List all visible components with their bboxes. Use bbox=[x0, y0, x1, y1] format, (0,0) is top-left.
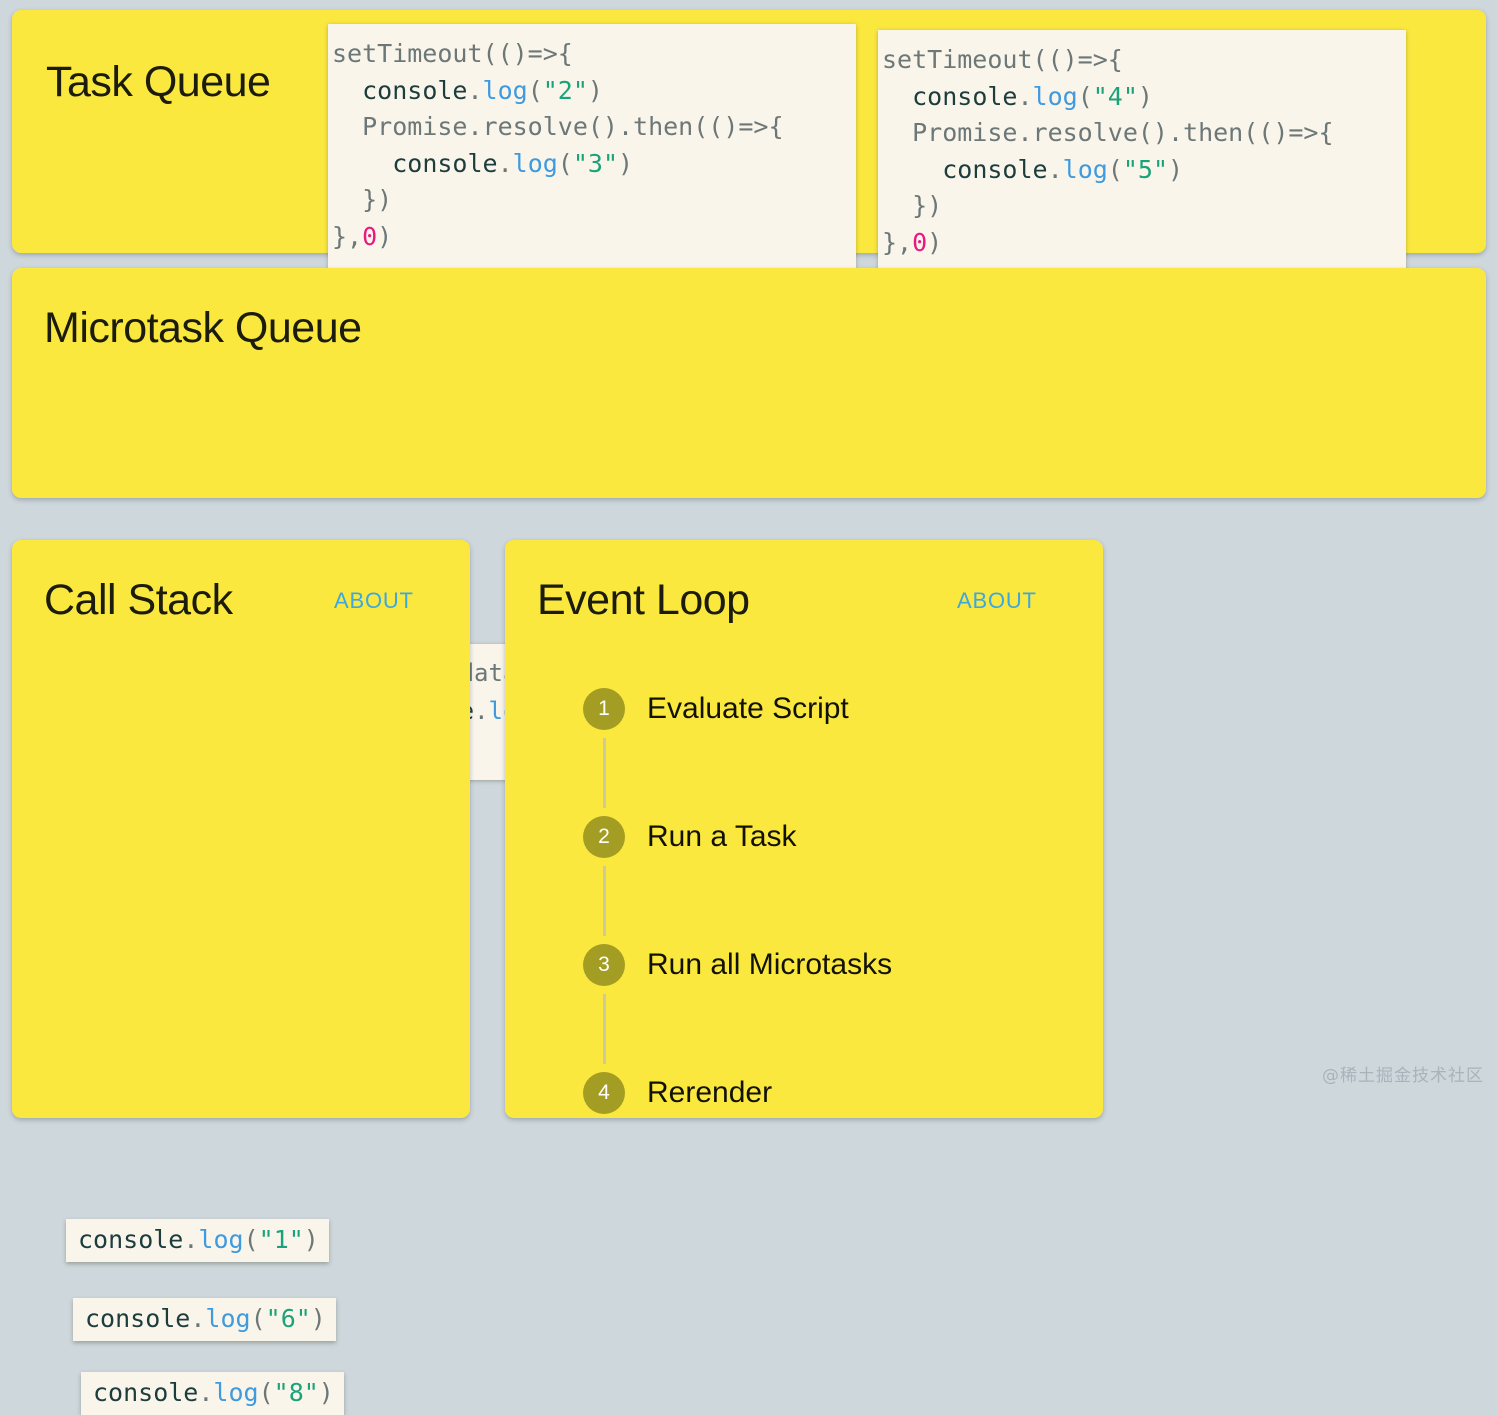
code-token: ( bbox=[558, 149, 573, 178]
event-loop-connector bbox=[603, 994, 606, 1064]
code-line: setTimeout(()=>{ bbox=[332, 36, 856, 73]
event-loop-step[interactable]: 2Run a Task bbox=[583, 816, 1083, 944]
code-token: ) bbox=[1168, 155, 1183, 184]
code-token: console bbox=[78, 1225, 183, 1254]
call-stack-about-link[interactable]: ABOUT bbox=[334, 590, 414, 612]
code-token: log bbox=[205, 1304, 250, 1333]
code-token: console bbox=[912, 82, 1017, 111]
call-stack-item[interactable]: console.log("1") bbox=[66, 1219, 329, 1262]
code-token: . bbox=[1048, 155, 1063, 184]
code-token: "4" bbox=[1093, 82, 1138, 111]
call-stack-title: Call Stack bbox=[44, 579, 233, 622]
code-line: console.log("2") bbox=[332, 73, 856, 110]
code-token: . bbox=[498, 149, 513, 178]
code-token: ) bbox=[319, 1378, 334, 1407]
code-token: ( bbox=[1078, 82, 1093, 111]
code-token: ) bbox=[618, 149, 633, 178]
call-stack-panel: Call Stack ABOUT console.log("1") consol… bbox=[12, 540, 470, 1118]
task-queue-title: Task Queue bbox=[46, 61, 270, 104]
code-token: ) bbox=[927, 228, 942, 257]
code-token: }, bbox=[332, 222, 362, 251]
code-line: console.log("3") bbox=[332, 146, 856, 183]
event-loop-step[interactable]: 4Rerender bbox=[583, 1072, 1083, 1132]
event-loop-step-number: 1 bbox=[583, 688, 625, 730]
code-token bbox=[882, 82, 912, 111]
code-token: ) bbox=[377, 222, 392, 251]
microtask-queue-panel: Microtask Queue p.then((data)=>{ console… bbox=[12, 268, 1486, 498]
microtask-queue-title: Microtask Queue bbox=[44, 307, 362, 350]
code-token: console bbox=[392, 149, 497, 178]
code-token: . bbox=[198, 1378, 213, 1407]
code-token: . bbox=[474, 697, 488, 725]
code-token: console bbox=[362, 76, 467, 105]
call-stack-item[interactable]: console.log("6") bbox=[73, 1298, 336, 1341]
event-loop-step[interactable]: 1Evaluate Script bbox=[583, 688, 1083, 816]
code-line: setTimeout(()=>{ bbox=[882, 42, 1406, 79]
event-loop-title: Event Loop bbox=[537, 579, 750, 622]
code-line: }) bbox=[332, 182, 856, 219]
code-token: ) bbox=[1138, 82, 1153, 111]
code-token: 0 bbox=[912, 228, 927, 257]
app-stage: Task Queue setTimeout(()=>{ console.log(… bbox=[0, 0, 1498, 1118]
code-token: log bbox=[1063, 155, 1108, 184]
event-loop-connector bbox=[603, 738, 606, 808]
code-line: console.log("5") bbox=[882, 152, 1406, 189]
code-token: . bbox=[467, 76, 482, 105]
watermark: @稀土掘金技术社区 bbox=[1322, 1061, 1484, 1086]
code-token: }) bbox=[332, 185, 392, 214]
event-loop-step-number: 2 bbox=[583, 816, 625, 858]
code-token bbox=[332, 76, 362, 105]
code-token: Promise.resolve().then(()=>{ bbox=[332, 112, 784, 141]
event-loop-step-label: Run all Microtasks bbox=[647, 948, 892, 982]
code-token: ( bbox=[251, 1304, 266, 1333]
code-token: "6" bbox=[266, 1304, 311, 1333]
code-token: console bbox=[942, 155, 1047, 184]
code-token: console bbox=[93, 1378, 198, 1407]
code-line: Promise.resolve().then(()=>{ bbox=[882, 115, 1406, 152]
code-token: 0 bbox=[362, 222, 377, 251]
code-token: log bbox=[198, 1225, 243, 1254]
task-queue-card-settimeout-log-2[interactable]: setTimeout(()=>{ console.log("2") Promis… bbox=[328, 24, 856, 269]
code-token: "8" bbox=[274, 1378, 319, 1407]
code-line: },0) bbox=[332, 219, 856, 256]
code-token: . bbox=[183, 1225, 198, 1254]
code-token: setTimeout(()=>{ bbox=[882, 45, 1123, 74]
code-token: "2" bbox=[543, 76, 588, 105]
event-loop-step-label: Run a Task bbox=[647, 820, 797, 854]
code-token: ( bbox=[244, 1225, 259, 1254]
code-token: }, bbox=[882, 228, 912, 257]
code-token bbox=[882, 155, 942, 184]
call-stack-item[interactable]: console.log("8") bbox=[81, 1372, 344, 1415]
event-loop-step-number: 4 bbox=[583, 1072, 625, 1114]
code-token: ) bbox=[588, 76, 603, 105]
code-line: }) bbox=[882, 188, 1406, 225]
code-token: "1" bbox=[259, 1225, 304, 1254]
code-token: Promise.resolve().then(()=>{ bbox=[882, 118, 1334, 147]
code-token: log bbox=[513, 149, 558, 178]
code-line: Promise.resolve().then(()=>{ bbox=[332, 109, 856, 146]
code-token bbox=[332, 149, 392, 178]
code-token: setTimeout(()=>{ bbox=[332, 39, 573, 68]
event-loop-step-number: 3 bbox=[583, 944, 625, 986]
code-token: . bbox=[190, 1304, 205, 1333]
code-token: . bbox=[1017, 82, 1032, 111]
event-loop-step-list: 1Evaluate Script2Run a Task3Run all Micr… bbox=[583, 688, 1083, 1132]
code-token: ( bbox=[1108, 155, 1123, 184]
event-loop-panel: Event Loop ABOUT 1Evaluate Script2Run a … bbox=[505, 540, 1103, 1118]
code-token: ( bbox=[259, 1378, 274, 1407]
code-line: console.log("4") bbox=[882, 79, 1406, 116]
event-loop-step-label: Evaluate Script bbox=[647, 692, 849, 726]
code-token: console bbox=[85, 1304, 190, 1333]
code-token: log bbox=[1033, 82, 1078, 111]
code-token: ( bbox=[528, 76, 543, 105]
code-token: ) bbox=[311, 1304, 326, 1333]
code-token: log bbox=[483, 76, 528, 105]
code-token: ) bbox=[304, 1225, 319, 1254]
code-line: },0) bbox=[882, 225, 1406, 262]
task-queue-card-settimeout-log-4[interactable]: setTimeout(()=>{ console.log("4") Promis… bbox=[878, 30, 1406, 275]
task-queue-panel: Task Queue setTimeout(()=>{ console.log(… bbox=[12, 10, 1486, 253]
event-loop-step[interactable]: 3Run all Microtasks bbox=[583, 944, 1083, 1072]
code-token: }) bbox=[882, 191, 942, 220]
event-loop-step-label: Rerender bbox=[647, 1076, 772, 1110]
code-token: "5" bbox=[1123, 155, 1168, 184]
event-loop-about-link[interactable]: ABOUT bbox=[957, 590, 1037, 612]
event-loop-connector bbox=[603, 866, 606, 936]
code-token: "3" bbox=[573, 149, 618, 178]
code-token: log bbox=[213, 1378, 258, 1407]
